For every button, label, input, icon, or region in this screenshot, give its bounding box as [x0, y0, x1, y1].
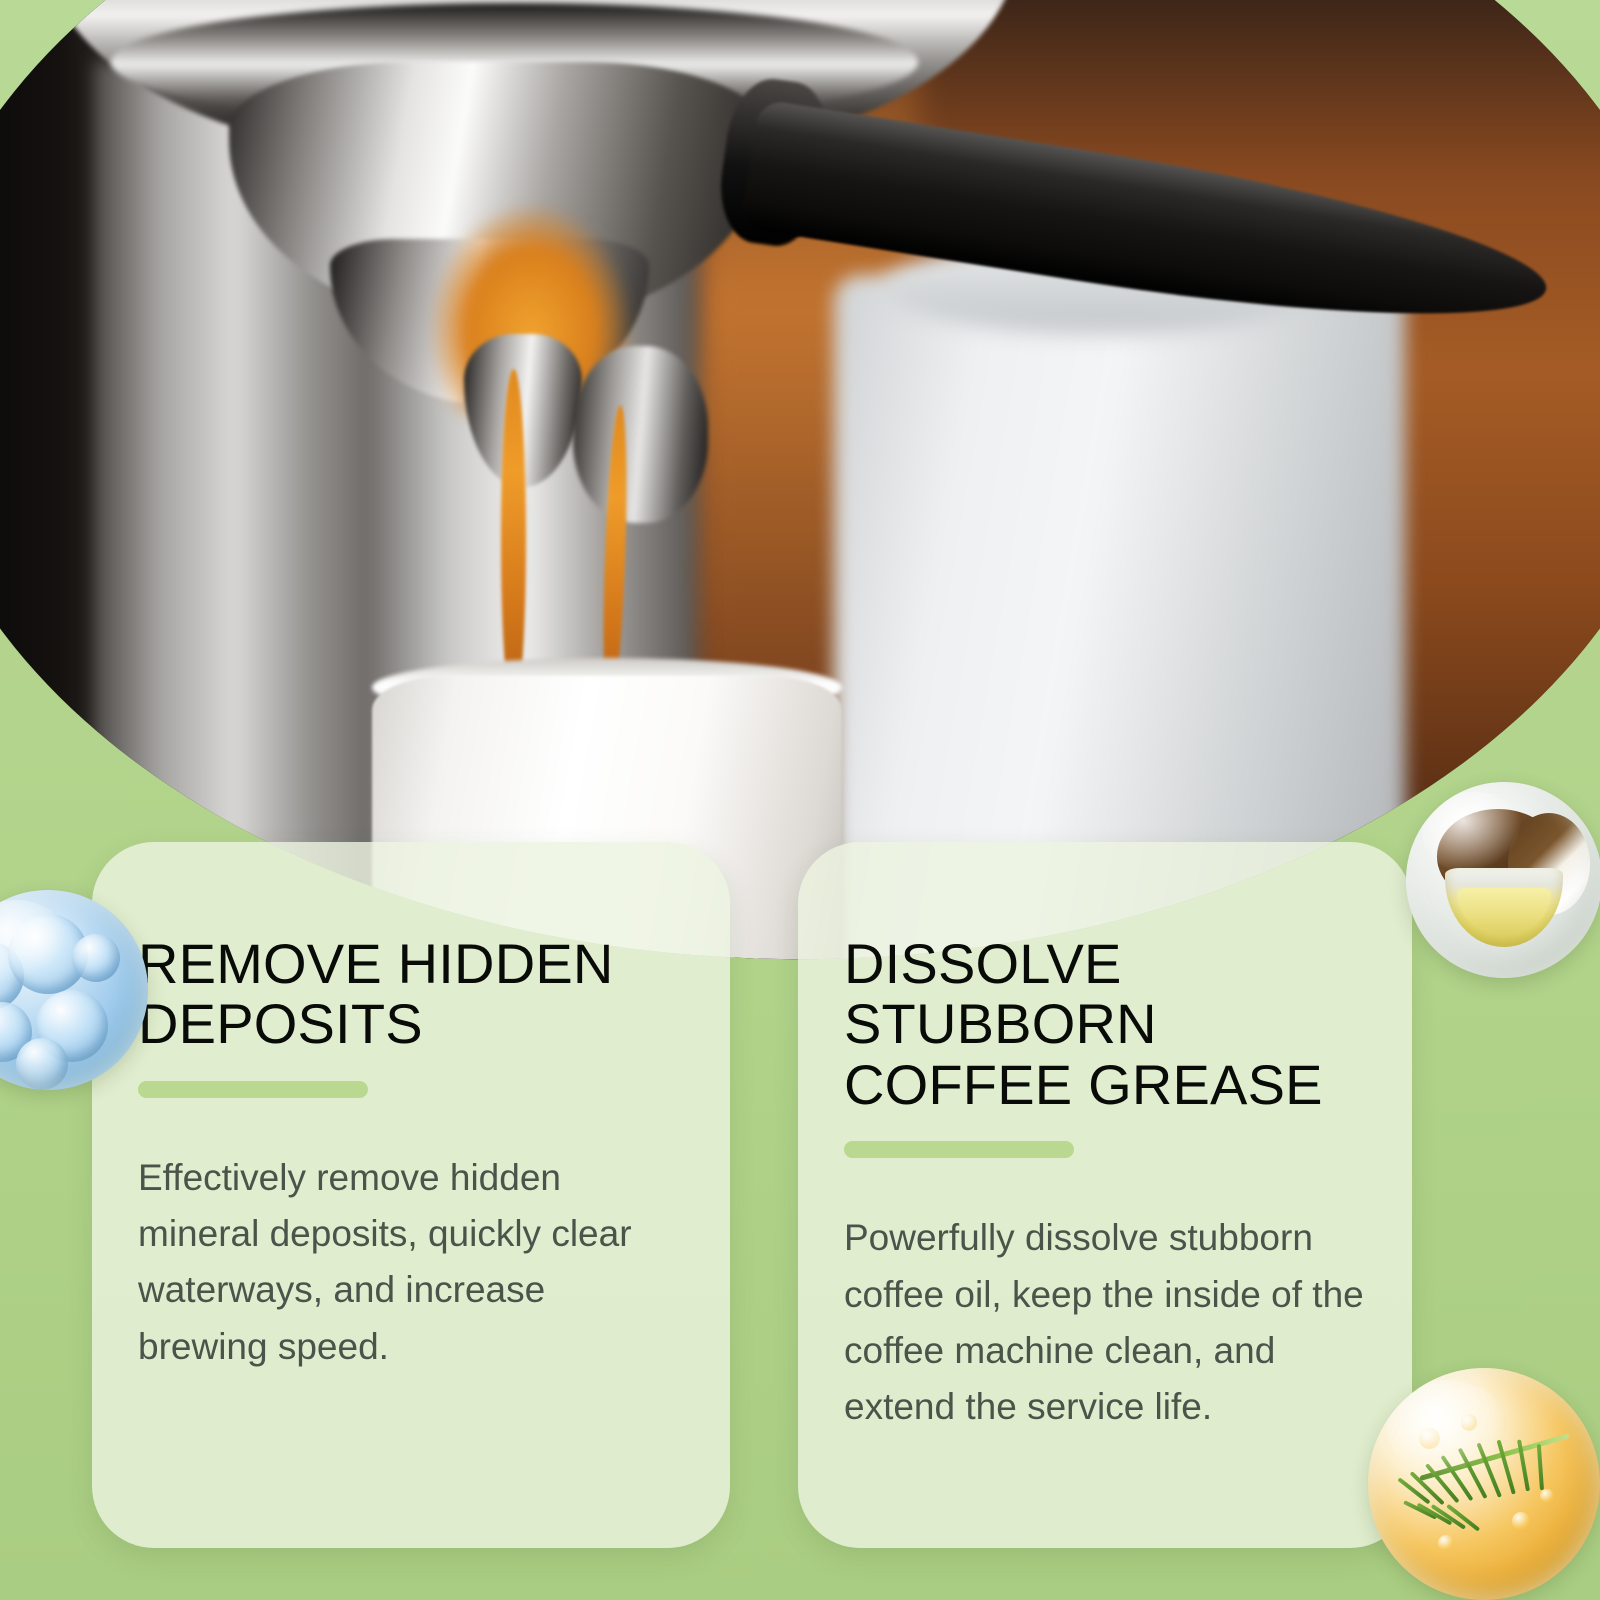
card-body-text: Powerfully dissolve stubborn coffee oil,… [844, 1210, 1364, 1435]
accent-bar [138, 1081, 368, 1098]
card-title: REMOVE HIDDEN DEPOSITS [138, 934, 682, 1055]
card-title: DISSOLVE STUBBORN COFFEE GREASE [844, 934, 1364, 1115]
feature-card-remove-hidden-deposits[interactable]: REMOVE HIDDEN DEPOSITS Effectively remov… [92, 842, 730, 1548]
card-body-text: Effectively remove hidden mineral deposi… [138, 1150, 658, 1375]
accent-bar [844, 1141, 1074, 1158]
product-feature-banner: REMOVE HIDDEN DEPOSITS Effectively remov… [0, 0, 1600, 1600]
coconut-oil-icon [1406, 782, 1600, 978]
portafilter-spout-right [573, 346, 707, 523]
palm-leaf-oil-icon [1368, 1368, 1600, 1600]
feature-card-dissolve-stubborn-coffee-grease[interactable]: DISSOLVE STUBBORN COFFEE GREASE Powerful… [798, 842, 1412, 1548]
